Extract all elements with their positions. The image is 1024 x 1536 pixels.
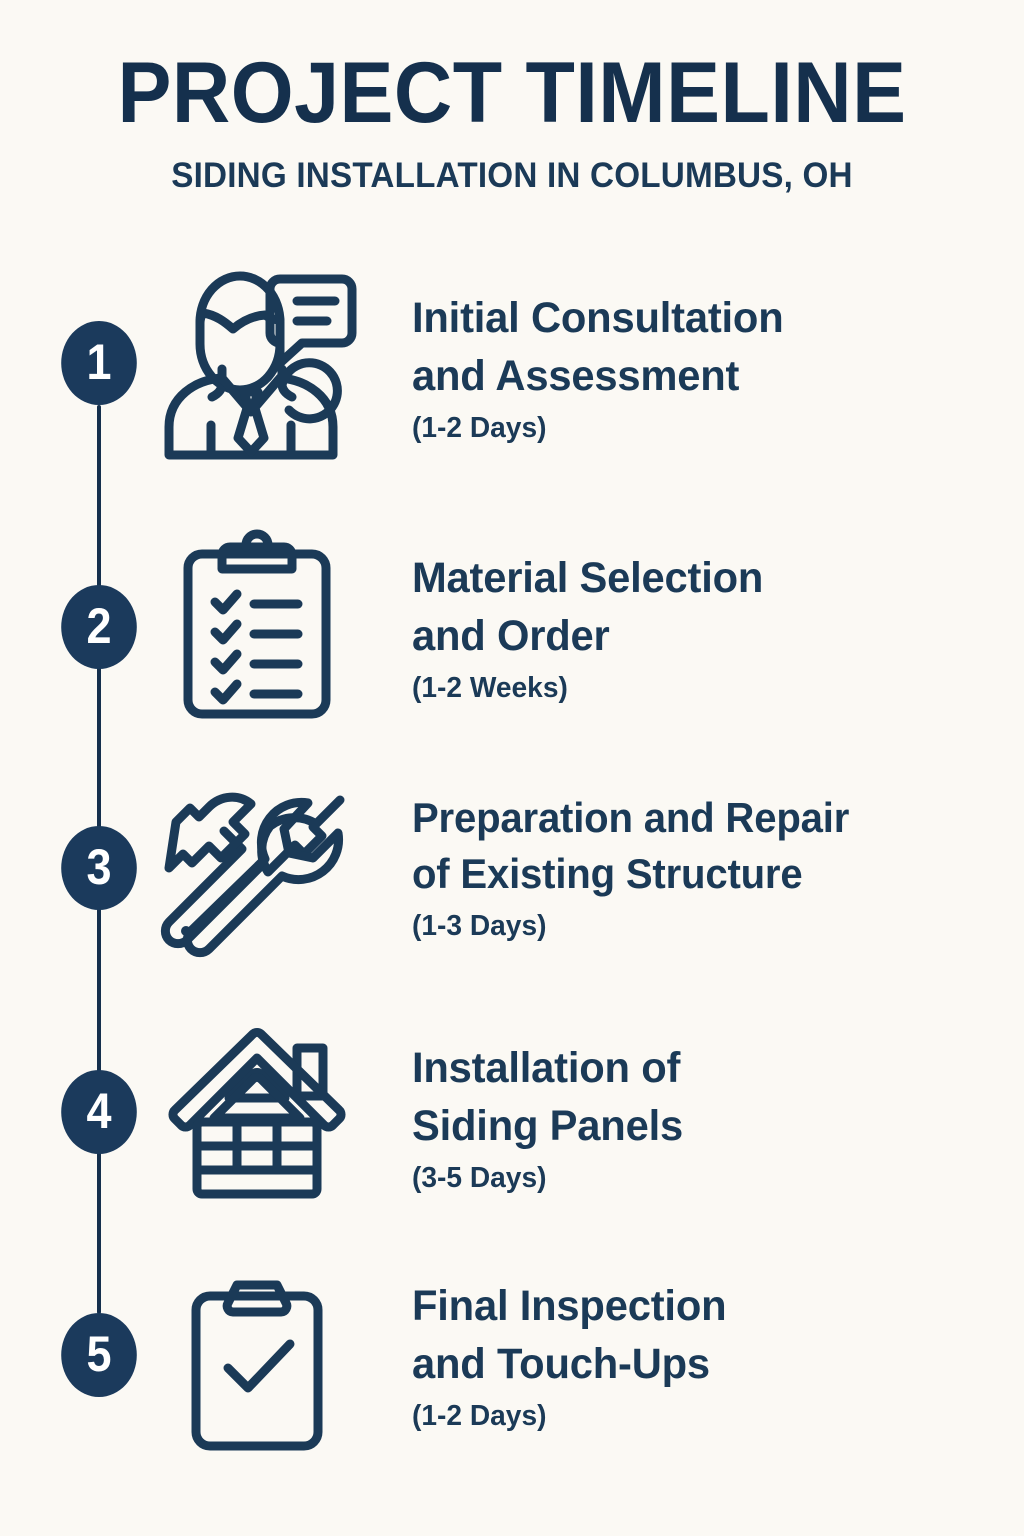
step-title-5-line2: and Touch-Ups bbox=[412, 1336, 975, 1394]
timeline-connector-3-4 bbox=[97, 908, 101, 1072]
step-title-3-line2: of Existing Structure bbox=[412, 846, 966, 902]
step-title-5-line1: Final Inspection bbox=[412, 1278, 975, 1336]
step-text-4: Installation of Siding Panels (3-5 Days) bbox=[412, 1040, 992, 1198]
step-duration-4: (3-5 Days) bbox=[412, 1159, 975, 1198]
step-title-4-line1: Installation of bbox=[412, 1040, 975, 1098]
timeline-node-5-number: 5 bbox=[86, 1329, 111, 1379]
consultation-person-speech-bubble-icon bbox=[152, 263, 362, 463]
timeline-connector-4-5 bbox=[97, 1152, 101, 1314]
step-title-3-line1: Preparation and Repair bbox=[412, 790, 966, 846]
step-text-3: Preparation and Repair of Existing Struc… bbox=[412, 790, 992, 946]
step-duration-2: (1-2 Weeks) bbox=[412, 669, 975, 708]
step-text-5: Final Inspection and Touch-Ups (1-2 Days… bbox=[412, 1278, 992, 1436]
timeline-node-4[interactable]: 4 bbox=[61, 1070, 137, 1154]
infographic-page: PROJECT TIMELINE SIDING INSTALLATION IN … bbox=[0, 0, 1024, 1536]
step-title-1-line1: Initial Consultation bbox=[412, 290, 975, 348]
timeline-node-1[interactable]: 1 bbox=[61, 321, 137, 405]
timeline: 1 bbox=[0, 0, 1024, 1536]
step-duration-3: (1-3 Days) bbox=[412, 907, 975, 946]
timeline-node-5[interactable]: 5 bbox=[61, 1313, 137, 1397]
step-title-1-line2: and Assessment bbox=[412, 348, 975, 406]
timeline-node-3-number: 3 bbox=[86, 842, 111, 892]
timeline-node-2-number: 2 bbox=[86, 601, 111, 651]
timeline-node-2[interactable]: 2 bbox=[61, 585, 137, 669]
hammer-wrench-tools-icon bbox=[152, 770, 362, 970]
timeline-node-1-number: 1 bbox=[86, 337, 111, 387]
step-title-2-line1: Material Selection bbox=[412, 550, 975, 608]
step-title-4-line2: Siding Panels bbox=[412, 1098, 975, 1156]
step-text-1: Initial Consultation and Assessment (1-2… bbox=[412, 290, 992, 448]
timeline-node-3[interactable]: 3 bbox=[61, 826, 137, 910]
house-siding-icon bbox=[152, 1012, 362, 1212]
timeline-connector-2-3 bbox=[97, 667, 101, 828]
step-title-2-line2: and Order bbox=[412, 608, 975, 666]
step-duration-1: (1-2 Days) bbox=[412, 409, 975, 448]
step-duration-5: (1-2 Days) bbox=[412, 1397, 975, 1436]
clipboard-check-icon bbox=[152, 1268, 362, 1468]
timeline-node-4-number: 4 bbox=[86, 1086, 111, 1136]
clipboard-checklist-icon bbox=[152, 527, 362, 727]
step-text-2: Material Selection and Order (1-2 Weeks) bbox=[412, 550, 992, 708]
timeline-connector-1-2 bbox=[97, 405, 101, 587]
